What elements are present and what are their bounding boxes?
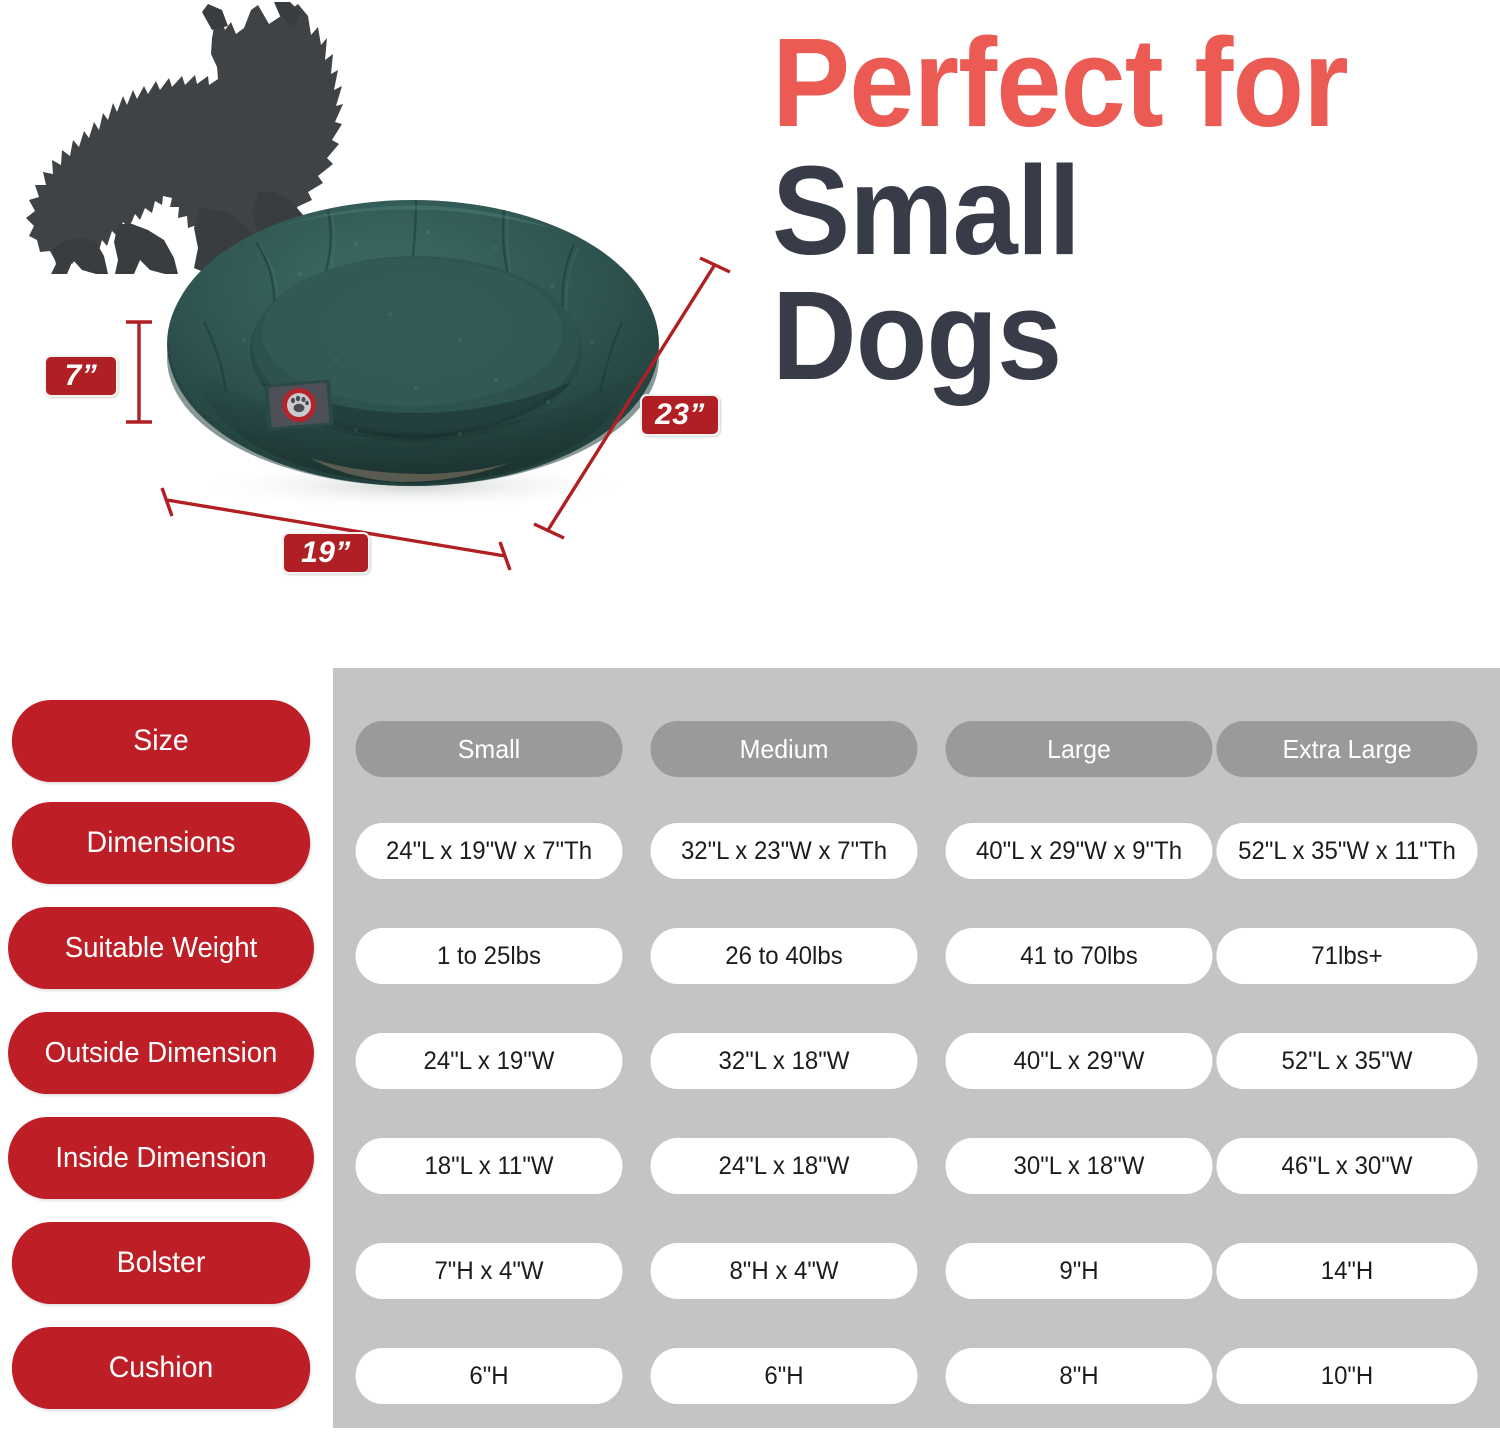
spec-cell: 32"L x 18"W: [651, 1033, 918, 1089]
spec-cell: 52"L x 35"W x 11"Th: [1216, 823, 1477, 879]
spec-cell: 9"H: [946, 1243, 1213, 1299]
spec-row-label-bolster: Bolster: [12, 1222, 310, 1304]
spec-cell: 8"H x 4"W: [651, 1243, 918, 1299]
spec-cell: 24"L x 19"W x 7"Th: [356, 823, 623, 879]
spec-cell: 26 to 40lbs: [651, 928, 918, 984]
spec-row-label-cushion: Cushion: [12, 1327, 310, 1409]
spec-panel-background: SmallMediumLargeExtra Large24"L x 19"W x…: [333, 668, 1500, 1428]
width-dimension-badge: 19”: [282, 532, 370, 574]
height-measure-line: [124, 318, 154, 426]
spec-row-label-size: Size: [12, 700, 310, 782]
spec-row-label-outside-dimension: Outside Dimension: [8, 1012, 314, 1094]
spec-column-header-small: Small: [356, 721, 623, 777]
spec-cell: 18"L x 11"W: [356, 1138, 623, 1194]
headline-line-3: Dogs: [772, 277, 1438, 395]
headline-line-2: Small: [772, 152, 1438, 270]
spec-row-label-inside-dimension: Inside Dimension: [8, 1117, 314, 1199]
spec-cell: 1 to 25lbs: [356, 928, 623, 984]
spec-row-label-suitable-weight: Suitable Weight: [8, 907, 314, 989]
headline-line-1: Perfect for: [772, 24, 1438, 142]
specification-table: SmallMediumLargeExtra Large24"L x 19"W x…: [0, 660, 1500, 1434]
spec-cell: 6"H: [651, 1348, 918, 1404]
product-infographic: 7” 19” 23” Perfect for Small Dogs: [0, 0, 1500, 1434]
spec-row-label-column: SizeDimensionsSuitable WeightOutside Dim…: [0, 660, 333, 1434]
spec-cell: 40"L x 29"W: [946, 1033, 1213, 1089]
spec-column-header-extra-large: Extra Large: [1216, 721, 1477, 777]
spec-column-header-large: Large: [946, 721, 1213, 777]
page-title: Perfect for Small Dogs: [772, 24, 1488, 395]
spec-cell: 40"L x 29"W x 9"Th: [946, 823, 1213, 879]
hero-section: 7” 19” 23” Perfect for Small Dogs: [0, 0, 1500, 660]
spec-cell: 32"L x 23"W x 7"Th: [651, 823, 918, 879]
spec-row-label-dimensions: Dimensions: [12, 802, 310, 884]
depth-dimension-badge: 23”: [640, 394, 720, 436]
spec-cell: 24"L x 18"W: [651, 1138, 918, 1194]
spec-cell: 6"H: [356, 1348, 623, 1404]
spec-cell: 14"H: [1216, 1243, 1477, 1299]
spec-cell: 41 to 70lbs: [946, 928, 1213, 984]
height-dimension-badge: 7”: [44, 355, 118, 397]
brand-tag: [264, 379, 334, 431]
spec-cell: 71lbs+: [1216, 928, 1477, 984]
spec-cell: 7"H x 4"W: [356, 1243, 623, 1299]
spec-cell: 46"L x 30"W: [1216, 1138, 1477, 1194]
spec-cell: 52"L x 35"W: [1216, 1033, 1477, 1089]
spec-cell: 10"H: [1216, 1348, 1477, 1404]
spec-cell: 24"L x 19"W: [356, 1033, 623, 1089]
spec-cell: 8"H: [946, 1348, 1213, 1404]
spec-cell: 30"L x 18"W: [946, 1138, 1213, 1194]
spec-column-header-medium: Medium: [651, 721, 918, 777]
